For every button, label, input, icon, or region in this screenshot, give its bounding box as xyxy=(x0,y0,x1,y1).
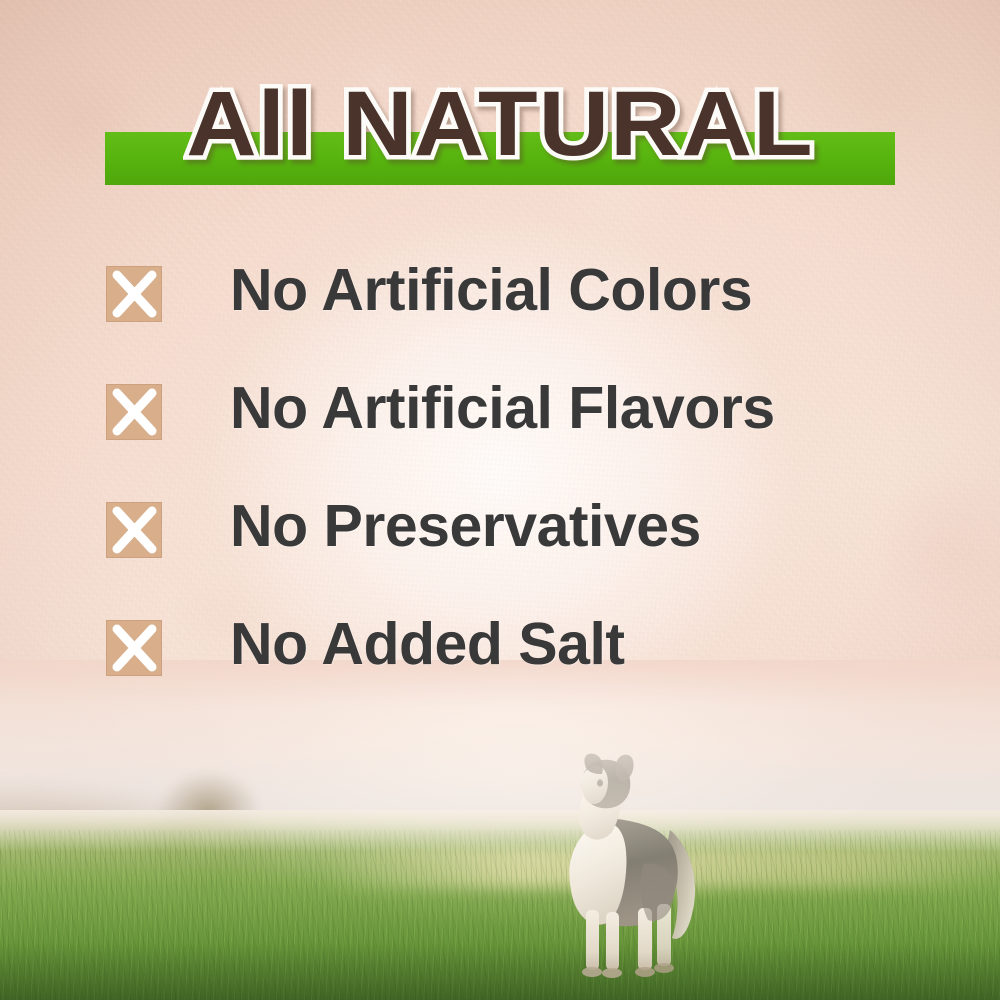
field-haze-mask xyxy=(0,810,1000,1000)
x-mark-icon xyxy=(106,620,162,676)
all-natural-claims-poster: All NATURAL No Artificial Colors No Arti… xyxy=(0,0,1000,1000)
headline-block: All NATURAL xyxy=(0,68,1000,196)
page-title: All NATURAL xyxy=(0,68,1000,180)
x-mark-icon xyxy=(106,502,162,558)
claim-label: No Preservatives xyxy=(230,494,701,558)
claim-label: No Added Salt xyxy=(230,612,625,676)
claims-list: No Artificial Colors No Artificial Flavo… xyxy=(106,258,960,730)
list-item: No Preservatives xyxy=(106,494,960,612)
dog-photo-subject xyxy=(520,752,720,982)
list-item: No Artificial Colors xyxy=(106,258,960,376)
claim-label: No Artificial Colors xyxy=(230,258,752,322)
list-item: No Artificial Flavors xyxy=(106,376,960,494)
claim-label: No Artificial Flavors xyxy=(230,376,775,440)
x-mark-icon xyxy=(106,266,162,322)
x-mark-icon xyxy=(106,384,162,440)
list-item: No Added Salt xyxy=(106,612,960,730)
